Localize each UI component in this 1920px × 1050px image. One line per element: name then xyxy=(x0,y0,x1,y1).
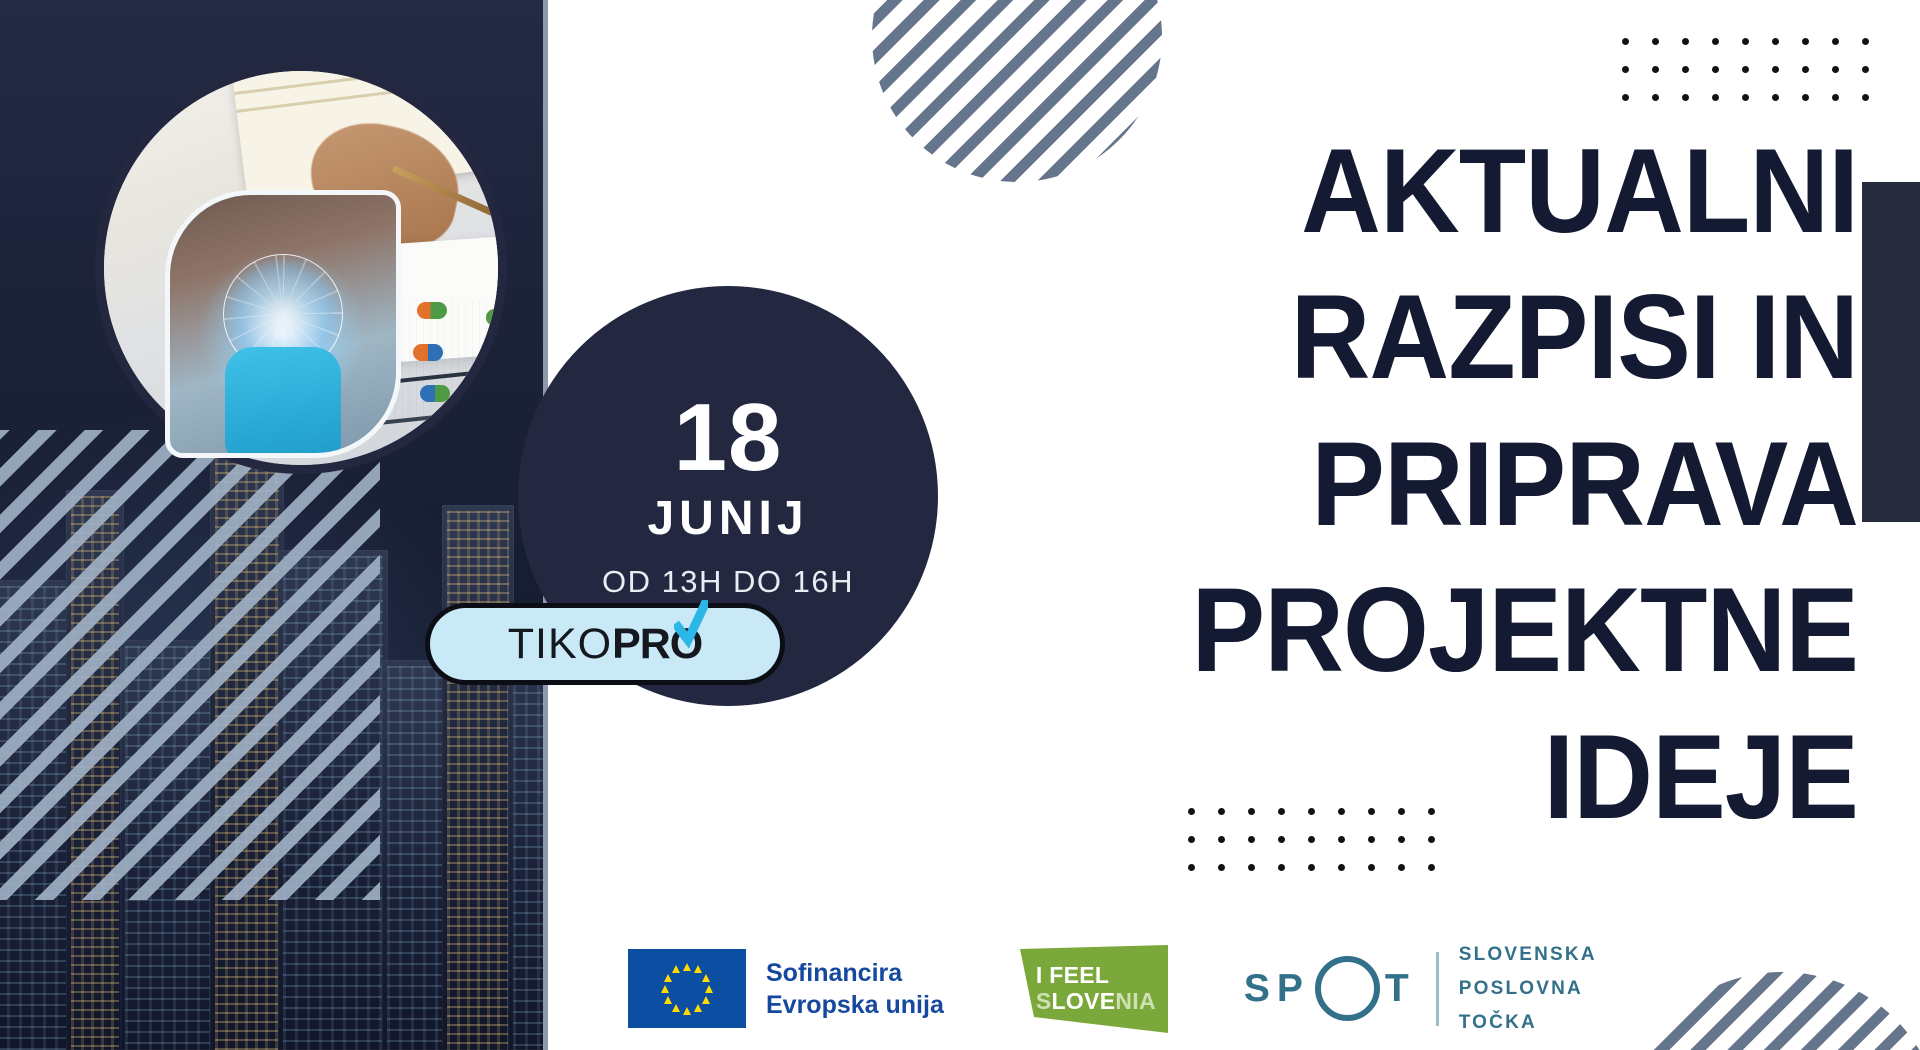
headline-line-5: IDEJE xyxy=(772,704,1858,850)
spot-letter-t: T xyxy=(1385,967,1416,1011)
spot-divider xyxy=(1436,952,1439,1026)
photo-idea-lightbulb xyxy=(165,190,401,458)
slovenia-line-2-post: NIA xyxy=(1115,988,1156,1014)
diagonal-stripes-left xyxy=(0,430,380,900)
eu-text-line-1: Sofinancira xyxy=(766,957,944,989)
eu-cofunding-logo: Sofinancira Evropska unija xyxy=(628,949,944,1028)
eu-flag-icon xyxy=(628,949,746,1028)
logo-text-thin: TIKO xyxy=(508,620,612,668)
headline-line-4: PROJEKTNE xyxy=(772,557,1858,703)
spot-wordmark: SPT xyxy=(1244,956,1416,1021)
headline-line-1: AKTUALNI xyxy=(772,118,1858,264)
spot-tagline-line-1: SLOVENSKA xyxy=(1459,938,1597,972)
spot-logo: SPT SLOVENSKA POSLOVNA TOČKA xyxy=(1244,938,1597,1039)
slovenia-line-2-pre: S xyxy=(1036,988,1052,1014)
spot-ring-icon xyxy=(1315,956,1380,1021)
eu-text-line-2: Evropska unija xyxy=(766,989,944,1021)
striped-circle-bottom xyxy=(1622,972,1920,1050)
spot-tagline-line-2: POSLOVNA xyxy=(1459,972,1597,1006)
headline-line-2: RAZPISI IN xyxy=(772,264,1858,410)
dark-accent-rectangle xyxy=(1862,182,1920,522)
footer-logos: Sofinancira Evropska unija I FEEL SLOVEN… xyxy=(628,938,1597,1039)
poster-canvas: 18 JUNIJ OD 13H DO 16H TIKOPRO AKTUALNI … xyxy=(0,0,1920,1050)
headline-line-3: PRIPRAVA xyxy=(772,411,1858,557)
eu-logo-text: Sofinancira Evropska unija xyxy=(766,957,944,1021)
slovenia-line-1: I FEEL xyxy=(1036,962,1109,988)
spot-letter-s: S xyxy=(1244,967,1277,1011)
spot-tagline-line-3: TOČKA xyxy=(1459,1006,1597,1040)
page-title: AKTUALNI RAZPISI IN PRIPRAVA PROJEKTNE I… xyxy=(678,118,1858,850)
spot-letter-p: P xyxy=(1277,967,1310,1011)
slovenia-line-2-bold: LOVE xyxy=(1052,988,1116,1014)
i-feel-slovenia-logo: I FEEL SLOVENIA xyxy=(1018,945,1170,1033)
spot-tagline: SLOVENSKA POSLOVNA TOČKA xyxy=(1459,938,1597,1039)
